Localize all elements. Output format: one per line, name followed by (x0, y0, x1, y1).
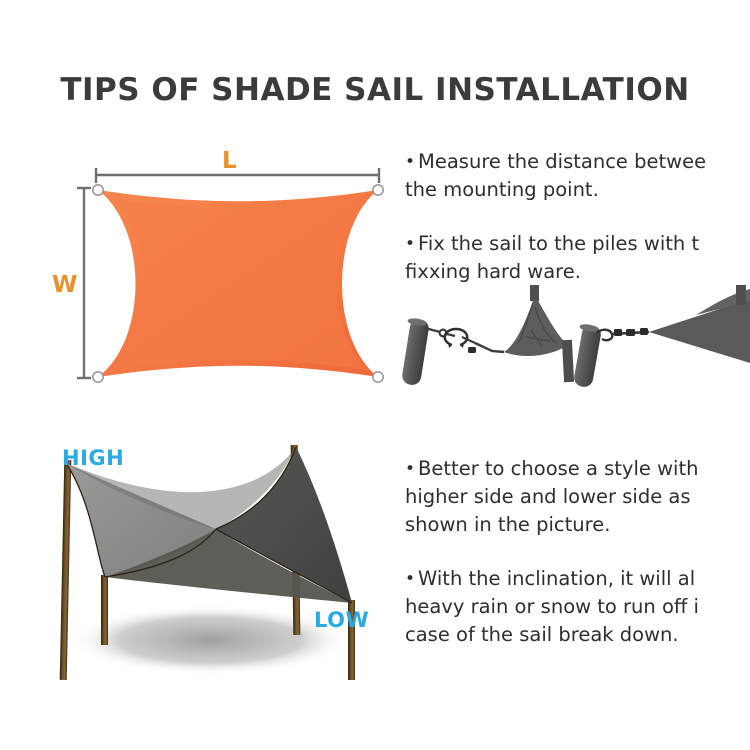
tip-line: •Fix the sail to the piles with t (405, 230, 750, 258)
tip-line: fixxing hard ware. (405, 258, 750, 286)
grommet-bottom-left (93, 372, 103, 382)
ground-shadow (70, 605, 350, 675)
hardware-svg (400, 285, 750, 395)
length-label: L (222, 148, 237, 174)
post-back-left (60, 460, 72, 680)
tip-line: heavy rain or snow to run off i (405, 593, 750, 621)
tip-line: case of the sail break down. (405, 621, 750, 649)
bullet-icon: • (405, 234, 415, 254)
incline-diagram (30, 425, 405, 725)
tip-line: •With the inclination, it will al (405, 565, 750, 593)
post-back-left (530, 285, 539, 301)
grommet-bottom-right (373, 372, 383, 382)
grommet-top-left (93, 185, 103, 195)
width-label: W (52, 272, 77, 298)
tips-bottom-list: •Better to choose a style with higher si… (405, 455, 750, 645)
tip-line: •Measure the distance betwee (405, 148, 750, 176)
tip-line: higher side and lower side as (405, 483, 750, 511)
tip-text: Better to choose a style with (418, 457, 698, 480)
post-back-right (736, 285, 746, 305)
cable-left-2 (475, 343, 504, 352)
width-dimension-line (77, 188, 91, 378)
high-label: HIGH (62, 446, 124, 470)
tip-line: the mounting point. (405, 176, 750, 204)
tip-text: With the inclination, it will al (418, 567, 695, 590)
tip-text: Measure the distance betwee (418, 150, 706, 173)
chain-links-right (611, 328, 649, 336)
bullet-icon: • (405, 569, 415, 589)
tip-item: •Measure the distance betwee the mountin… (405, 148, 750, 204)
low-label: LOW (314, 608, 369, 632)
clamp-left (468, 347, 476, 353)
infographic-page: TIPS OF SHADE SAIL INSTALLATION (0, 0, 750, 750)
turnbuckle-left (445, 329, 475, 348)
length-dimension-line (96, 168, 379, 183)
bullet-icon: • (405, 152, 415, 172)
tip-line: •Better to choose a style with (405, 455, 750, 483)
bullet-icon: • (405, 459, 415, 479)
hardware-right-assembly (573, 285, 750, 388)
tip-item: •Fix the sail to the piles with t fixxin… (405, 230, 750, 286)
shade-sail-highlight (110, 198, 368, 370)
hardware-left-assembly (401, 285, 574, 386)
hardware-diagrams (400, 285, 750, 395)
incline-svg (30, 425, 405, 725)
tip-line: shown in the picture. (405, 511, 750, 539)
tips-top-list: •Measure the distance betwee the mountin… (405, 148, 750, 293)
grommet-top-right (373, 185, 383, 195)
tip-item: •With the inclination, it will al heavy … (405, 565, 750, 649)
tip-text: Fix the sail to the piles with t (418, 232, 699, 255)
sail-corner-left (504, 295, 568, 356)
tip-item: •Better to choose a style with higher si… (405, 455, 750, 539)
sail-dimensions-svg (30, 140, 400, 405)
post-front-left (101, 575, 108, 645)
sail-dimensions-diagram (30, 140, 400, 405)
post-front-left (562, 340, 574, 382)
page-title: TIPS OF SHADE SAIL INSTALLATION (0, 72, 750, 108)
sail-corner-right (649, 299, 750, 363)
